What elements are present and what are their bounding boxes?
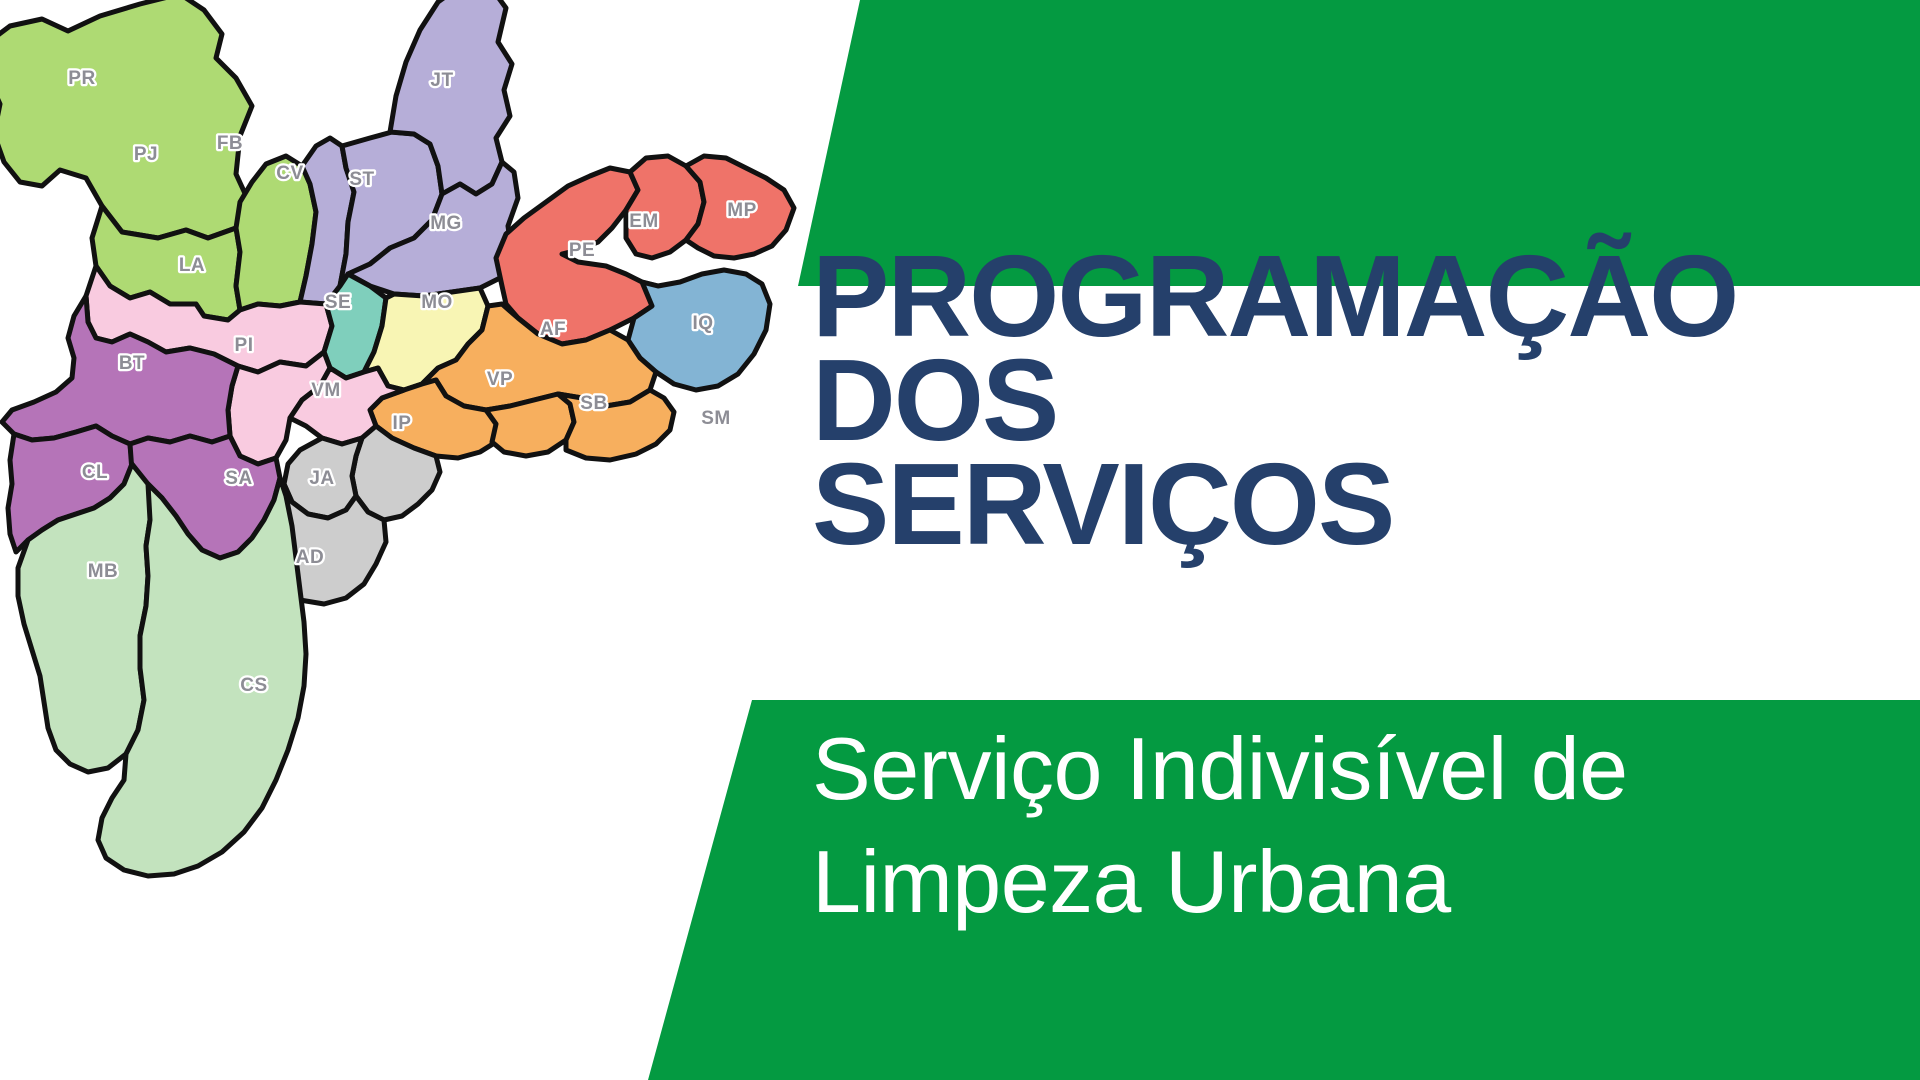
district-label-MO: MO — [421, 292, 453, 313]
district-label-FB: FB — [217, 133, 243, 154]
district-label-AD: AD — [296, 547, 324, 568]
district-label-MP: MP — [727, 200, 757, 221]
district-label-PJ: PJ — [134, 144, 158, 165]
district-label-MG: MG — [430, 213, 462, 234]
sao-paulo-subprefecture-map: PRPJFBCVSTJTMGLASEMOPEEMMPIQAFVPSBSMPIVM… — [0, 0, 840, 1080]
district-label-SA: SA — [225, 468, 252, 489]
district-label-PE: PE — [569, 240, 595, 261]
poster-canvas: PRPJFBCVSTJTMGLASEMOPEEMMPIQAFVPSBSMPIVM… — [0, 0, 1920, 1080]
district-label-PR: PR — [68, 68, 95, 89]
subtitle-block: Serviço Indivisível de Limpeza Urbana — [812, 712, 1920, 938]
subtitle-line-1: Serviço Indivisível de — [812, 712, 1920, 825]
headline-block: PROGRAMAÇÃO DOS SERVIÇOS — [812, 244, 1920, 556]
headline-line-2: DOS — [812, 348, 1920, 452]
district-label-IQ: IQ — [692, 313, 713, 334]
district-label-ST: ST — [349, 169, 374, 190]
district-label-PI: PI — [235, 335, 254, 356]
district-label-VM: VM — [311, 380, 341, 401]
district-label-EM: EM — [629, 211, 659, 232]
map-svg: PRPJFBCVSTJTMGLASEMOPEEMMPIQAFVPSBSMPIVM… — [0, 0, 840, 1080]
headline-line-3: SERVIÇOS — [812, 452, 1920, 556]
district-label-SM: SM — [701, 408, 731, 429]
headline-line-1: PROGRAMAÇÃO — [812, 244, 1920, 348]
district-label-SB: SB — [580, 393, 607, 414]
district-label-BT: BT — [119, 353, 145, 374]
district-label-VP: VP — [487, 369, 513, 390]
district-label-CV: CV — [276, 163, 303, 184]
district-label-JA: JA — [309, 468, 334, 489]
district-label-IP: IP — [393, 413, 412, 434]
district-label-AF: AF — [540, 319, 566, 340]
district-label-JT: JT — [430, 70, 453, 91]
district-label-SE: SE — [325, 292, 351, 313]
district-label-MB: MB — [88, 561, 119, 582]
district-label-CS: CS — [240, 675, 267, 696]
district-label-CL: CL — [82, 462, 108, 483]
district-PR[interactable] — [0, 0, 252, 238]
subtitle-line-2: Limpeza Urbana — [812, 825, 1920, 938]
district-label-LA: LA — [179, 255, 205, 276]
